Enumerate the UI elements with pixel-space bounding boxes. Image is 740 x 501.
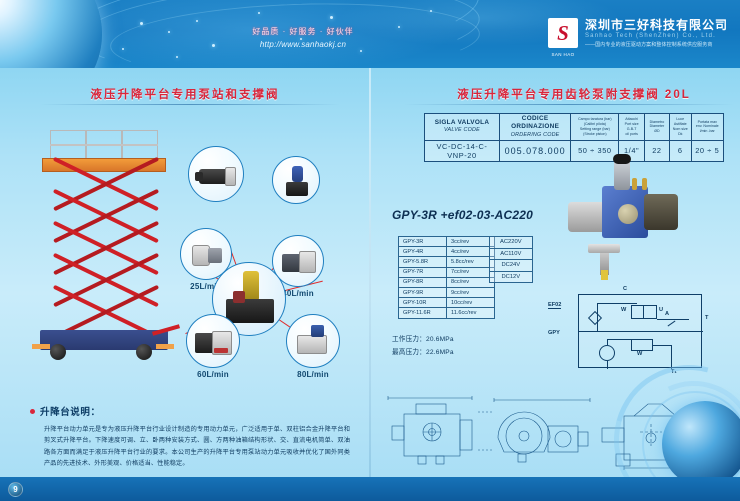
lift-outrigger [156,344,174,349]
lift-guardrail-midbar [50,144,158,146]
th-valve-code-en: VALVE CODE [427,127,497,134]
voltage-options-table: AC220V AC110V DC24V DC12V [489,236,533,283]
th-max-flow-l3: l/min -bar [694,129,721,134]
th-port-size-l4: oil ports [621,132,641,137]
working-pressure: 工作压力：20.6MPa [392,334,454,347]
td-model: GPY-11.6R [399,308,447,318]
td-voltage: DC12V [490,271,533,283]
center-port-plug [618,204,638,224]
logo-subtext: SAN HAO [548,52,578,57]
notes-header: 升降台说明： [30,404,350,418]
sanhao-logo-icon: S SAN HAO [548,18,578,48]
th-setting-range-l4: (Stroke piston) [573,132,616,137]
scissor-arms [48,172,160,332]
td-displacement: 8cc/rev [447,277,495,287]
schematic-divider [579,331,703,332]
throttle-symbol [668,321,676,327]
pump-photo-top-left [188,146,244,202]
flow-label-60: 60L/min [170,370,256,379]
schematic-port-c: C [623,286,627,292]
company-tagline: ——国内专业的液压驱动方案和整体控制系统供应服务商 [585,42,728,48]
td-voltage: DC24V [490,260,533,272]
table-row: DC24V [490,260,533,272]
valve-block [208,248,222,263]
th-port-size: Attacchi Port size G-B-T oil ports [619,114,644,141]
sparkle-dot [360,50,362,52]
sparkle-dot [168,31,170,33]
valve-spec-table: SIGLA VALVOLA VALVE CODE CODICE ORDINAZI… [424,113,724,162]
pump-body [299,251,316,273]
lift-outrigger [32,344,50,349]
company-slogan: 好品质 · 好服务 · 好伙伴 http://www.sanhaokj.cn [218,26,388,49]
sparkle-dot [140,22,143,25]
sparkle-dot [122,48,124,50]
shaft-key [601,270,608,280]
notes-body-text: 升降平台动力单元是专为液压升降平台行业设计制造的专用动力单元，广泛适用于单、双柱… [30,424,350,470]
relief-valve-box [631,305,657,319]
right-title-rule [404,104,734,105]
sphere-highlight [0,0,10,32]
schematic-port-t: T [705,315,708,321]
website-text: http://www.sanhaokj.cn [218,40,388,49]
valve-knob-cap [613,154,631,164]
company-identity: S SAN HAO 深圳市三好科技有限公司 Sanhao Tech (ShenZ… [548,18,728,48]
td-model: GPY-8R [399,277,447,287]
brass-fitting [632,178,637,190]
logo-letter: S [557,23,569,44]
td-displacement: 11.6cc/rev [447,308,495,318]
td-displacement: 4cc/rev [447,247,495,257]
table-row: GPY-10R 10cc/rev [399,298,495,308]
lift-wheel [136,344,152,360]
td-displacement: 10cc/rev [447,298,495,308]
company-name-cn: 深圳市三好科技有限公司 [585,18,728,33]
th-diameter: Diametro Diameter ØD [644,114,669,141]
tank-body [297,335,327,354]
pump-photo-80 [286,314,340,368]
th-nom-size-l3: Nom size [672,127,689,132]
table-row: DC12V [490,271,533,283]
red-indicator [214,348,228,353]
th-nom-size-l4: Dk [672,132,689,137]
table-row: GPY-3R 3cc/rev [399,237,495,247]
mounting-flange [588,244,620,253]
td-displacement: 9cc/rev [447,287,495,297]
td-model: GPY-10R [399,298,447,308]
td-model: GPY-5.8R [399,257,447,267]
table-header-row: SIGLA VALVOLA VALVE CODE CODICE ORDINAZI… [425,114,724,141]
schematic-line [643,305,644,319]
sparkle-dot [258,12,260,14]
left-title-rule [40,104,340,105]
catalog-page: 好品质 · 好服务 · 好伙伴 http://www.sanhaokj.cn S… [0,0,740,501]
schematic-label-ef02: EF02 [548,302,561,309]
td-model: GPY-4R [399,247,447,257]
th-order-code-en: ORDERING CODE [502,132,568,139]
company-name-en: Sanhao Tech (ShenZhen) Co., Ltd. [585,33,728,41]
table-row: GPY-9R 9cc/rev [399,287,495,297]
top-banner: 好品质 · 好服务 · 好伙伴 http://www.sanhaokj.cn S… [0,0,740,68]
footer-strip [0,477,740,501]
pressure-spec-block: 工作压力：20.6MPa 最高压力：22.6MPa [392,334,454,359]
sparkle-dot [176,56,178,58]
globe-sphere [662,401,740,487]
control-valve [233,291,245,303]
displacement-table: GPY-3R 3cc/rev GPY-4R 4cc/rev GPY-5.8R 5… [398,236,495,319]
td-valve-code: VC-DC-14-C-VNP-20 [425,140,500,161]
page-number-badge: 9 [8,482,23,497]
sparkle-dot [196,20,198,22]
th-order-code-cn: CODICE ORDINAZIONE [502,115,568,132]
solenoid-valve [311,325,324,337]
th-diameter-l3: ØD [647,129,667,134]
td-model: GPY-9R [399,287,447,297]
schematic-port-w-upper: W [621,307,626,313]
schematic-port-u: U [659,307,663,313]
table-row: GPY-8R 8cc/rev [399,277,495,287]
globe-graphic [604,341,740,491]
schematic-line [657,319,689,320]
lift-wheel [50,344,66,360]
lift-notes-panel: 升降台说明： 升降平台动力单元是专为液压升降平台行业设计制造的专用动力单元，广泛… [30,404,350,470]
notes-title: 升降台说明： [40,404,101,418]
td-displacement: 7cc/rev [447,267,495,277]
td-model: GPY-3R [399,237,447,247]
flow-label-80: 80L/min [270,370,356,379]
electric-motor [292,166,303,182]
schematic-label-gpy: GPY [548,330,560,336]
slogan-text: 好品质 · 好服务 · 好伙伴 [218,26,388,37]
bullet-icon [30,409,35,414]
max-pressure: 最高压力：22.6MPa [392,347,454,360]
left-page-title: 液压升降平台专用泵站和支撑阀 [60,86,310,102]
pump-photo-60 [186,314,240,368]
schematic-port-a: A [665,311,669,317]
right-page-title: 液压升降平台专用齿轮泵附支撑阀 20L [424,86,724,102]
page-spine-divider [369,68,371,478]
th-setting-range: Campo taratura (bar) (Calibri pilota) Se… [571,114,619,141]
th-valve-code-cn: SIGLA VALVOLA [427,119,497,127]
sparkle-dot [330,16,333,19]
sparkle-dot [212,44,215,47]
table-row: AC110V [490,248,533,260]
th-valve-code: SIGLA VALVOLA VALVE CODE [425,114,500,141]
schematic-line [597,303,637,304]
td-voltage: AC220V [490,237,533,249]
table-row: GPY-11.6R 11.6cc/rev [399,308,495,318]
oil-tank [286,182,308,196]
sparkle-dot [398,26,400,28]
td-displacement: 5.8cc/rev [447,257,495,267]
motor-end-cap [195,172,203,181]
th-max-flow: Portata max env. Nominale l/min -bar [691,114,723,141]
th-nom-size: Luce Astiflate Nom size Dk [670,114,692,141]
td-voltage: AC110V [490,248,533,260]
company-name-block: 深圳市三好科技有限公司 Sanhao Tech (ShenZhen) Co., … [585,18,728,48]
motor-cylinder [243,271,259,301]
sparkle-dot [430,10,432,12]
table-row: GPY-4R 4cc/rev [399,247,495,257]
table-row: GPY-5.8R 5.8cc/rev [399,257,495,267]
scissor-lift-illustration [34,130,174,368]
pump-photo-top-right [272,156,320,204]
td-model: GPY-7R [399,267,447,277]
td-displacement: 3cc/rev [447,237,495,247]
pump-head [225,167,236,186]
check-valve-symbol [588,311,602,325]
gear-pump-valve-photo [556,158,696,286]
solenoid-coil [644,194,678,230]
model-code-heading: GPY-3R +ef02-03-AC220 [392,208,533,222]
th-order-code: CODICE ORDINAZIONE ORDERING CODE [499,114,570,141]
brass-fitting [642,178,647,190]
table-row: GPY-7R 7cc/rev [399,267,495,277]
valve-stem [614,160,630,190]
table-row: AC220V [490,237,533,249]
